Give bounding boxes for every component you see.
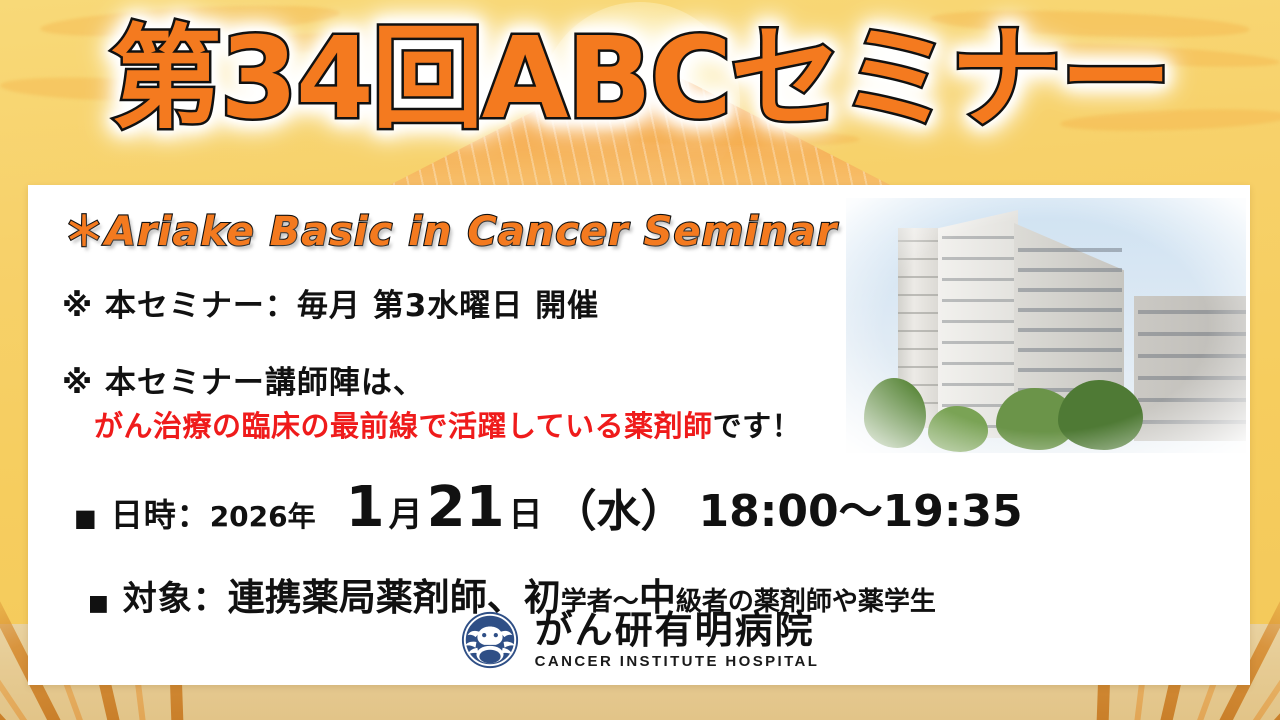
english-subtitle: ＊Ariake Basic in Cancer Seminar [64,199,837,257]
seminar-poster: 第34回ABCセミナー ＊Ariake Basic in Cancer Semi… [0,0,1280,720]
date-time-range: 18:00〜19:35 [699,475,1023,539]
date-time-row: ■ 日時： 2026年 1 月 21 日 （水） 18:00〜19:35 [74,475,1023,540]
note-lecturers: ※ 本セミナー講師陣は、 [62,357,425,402]
note-highlight-red: がん治療の臨床の最前線で活躍している薬剤師 [94,409,713,443]
logo-name-jp: がん研有明病院 [535,611,820,649]
asterisk-icon: ＊ [64,209,105,255]
crab-emblem-icon [459,609,521,671]
bullet-square-icon: ■ [74,506,97,530]
note-lecturers-highlight: がん治療の臨床の最前線で活躍している薬剤師です！ [94,403,801,445]
logo-text-block: がん研有明病院 CANCER INSTITUTE HOSPITAL [535,611,820,669]
hospital-logo: がん研有明病院 CANCER INSTITUTE HOSPITAL [28,609,1250,671]
date-label: 日時： [111,490,210,536]
logo-name-en: CANCER INSTITUTE HOSPITAL [535,654,820,669]
date-year: 2026年 [210,495,316,535]
page-title: 第34回ABCセミナー [0,18,1280,141]
note-schedule: ※ 本セミナー：毎月 第3水曜日 開催 [62,280,599,325]
date-day-unit: 日 [509,487,543,536]
date-day-number: 21 [427,475,505,540]
note-highlight-tail: です！ [713,409,802,443]
content-panel: ＊Ariake Basic in Cancer Seminar ※ 本セミナー：… [28,185,1250,685]
english-subtitle-text: Ariake Basic in Cancer Seminar [105,209,837,255]
hospital-building-photo [846,198,1246,453]
date-month-number: 1 [346,475,385,540]
date-month-unit: 月 [389,487,423,536]
date-weekday: （水） [553,475,685,539]
